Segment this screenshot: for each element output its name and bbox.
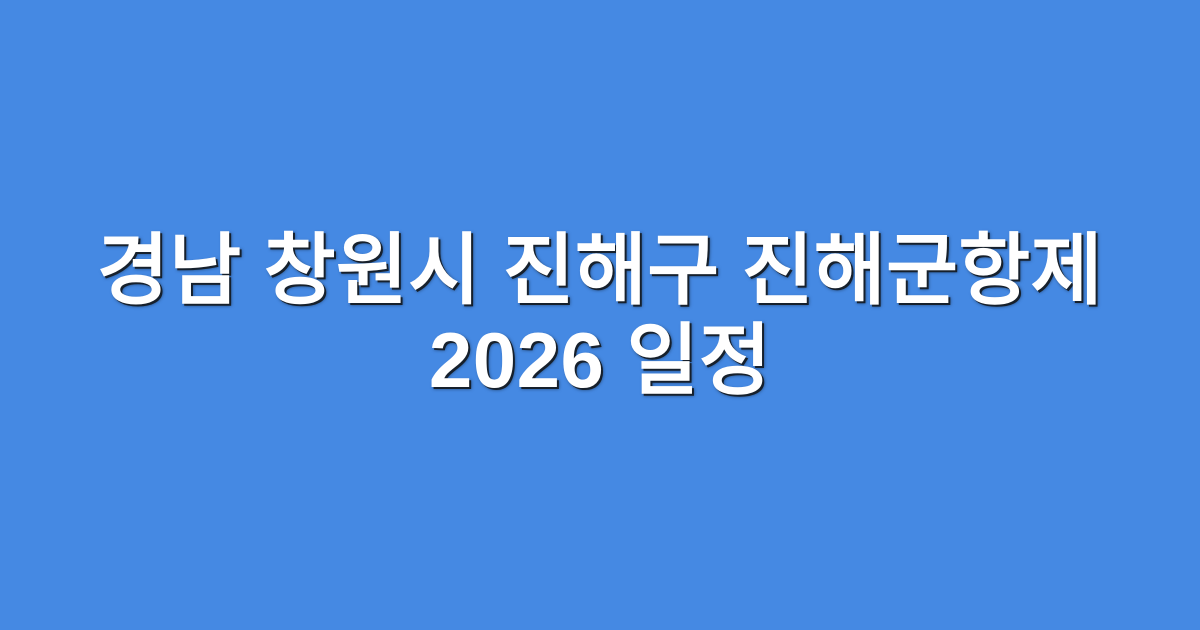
page-title: 경남 창원시 진해구 진해군항제 2026 일정 <box>70 225 1130 405</box>
page-title-line-2: 2026 일정 <box>70 315 1130 405</box>
og-share-card: 경남 창원시 진해구 진해군항제 2026 일정 <box>0 0 1200 630</box>
page-title-line-1: 경남 창원시 진해구 진해군항제 <box>70 225 1130 315</box>
